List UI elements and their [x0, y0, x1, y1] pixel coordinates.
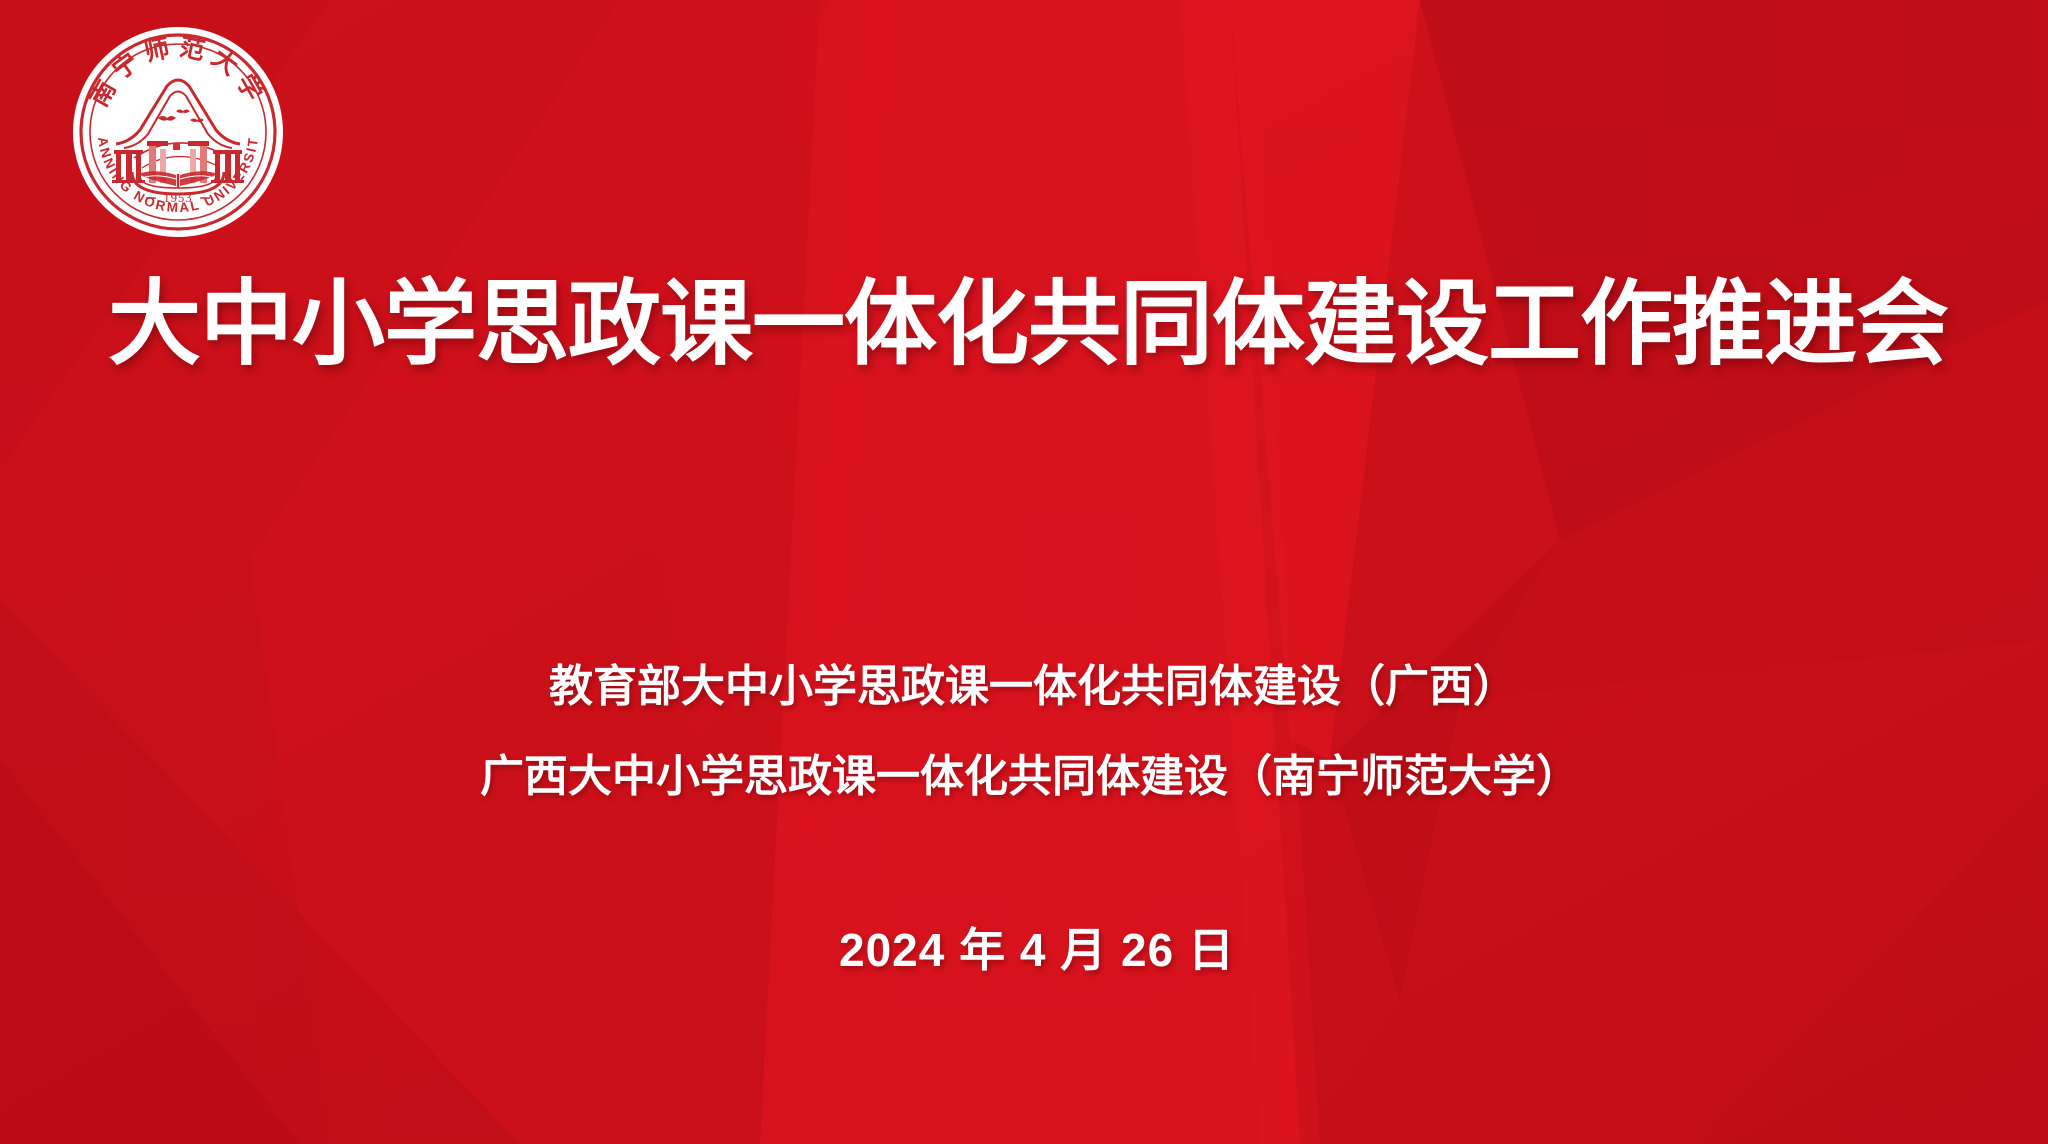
- university-logo: 南宁师范大学 NANNING NORMAL UNIVERSITY 1953: [72, 26, 284, 238]
- subtitle-line-1: 教育部大中小学思政课一体化共同体建设（广西）: [0, 665, 2048, 709]
- subtitle-line-2: 广西大中小学思政课一体化共同体建设（南宁师范大学）: [0, 755, 2048, 799]
- presentation-slide: 南宁师范大学 NANNING NORMAL UNIVERSITY 1953: [0, 0, 2048, 1144]
- page-title: 大中小学思政课一体化共同体建设工作推进会: [0, 278, 2048, 371]
- event-date: 2024 年 4 月 26 日: [0, 927, 2048, 973]
